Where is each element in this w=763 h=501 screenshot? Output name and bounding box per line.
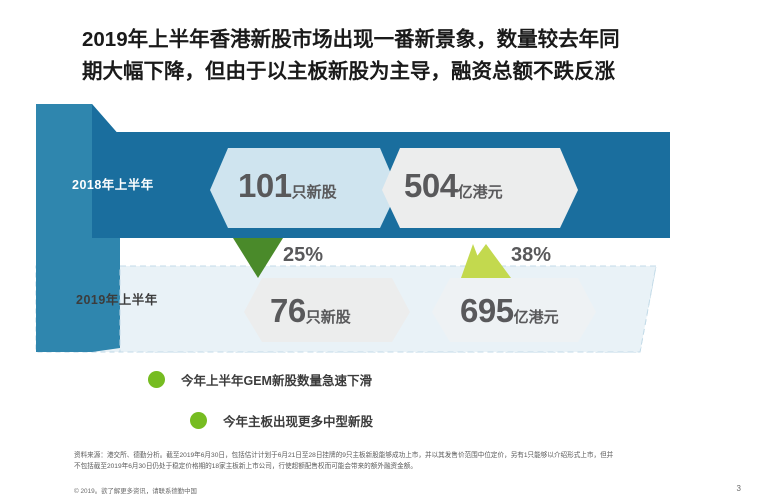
bullet-dot-icon xyxy=(190,412,207,429)
footnote-line-2: 不包括截至2019年6月30日仍处于稳定价格期的18家主板新上市公司，行使超额配… xyxy=(74,462,714,473)
stat-ipo-count-2018-value: 101 xyxy=(238,167,292,204)
stat-ipo-count-2019: 76只新股 xyxy=(270,292,351,330)
bullet-item-2: 今年主板出现更多中型新股 xyxy=(190,411,373,430)
stat-ipo-funds-2018-unit: 亿港元 xyxy=(458,184,503,201)
stat-ipo-count-2019-unit: 只新股 xyxy=(306,309,351,326)
stat-ipo-funds-2019-value: 695 xyxy=(460,292,514,329)
band-label-2019: 2019年上半年 xyxy=(76,289,158,308)
bullet-item-2-label: 今年主板出现更多中型新股 xyxy=(223,411,373,430)
stat-ipo-funds-2018: 504亿港元 xyxy=(404,167,503,205)
stat-ipo-count-2018-unit: 只新股 xyxy=(292,184,337,201)
bullet-item-1-label: 今年上半年GEM新股数量急速下滑 xyxy=(181,370,372,389)
band-label-2018: 2018年上半年 xyxy=(72,174,154,193)
slide: 2019年上半年香港新股市场出现一番新景象，数量较去年同 期大幅下降，但由于以主… xyxy=(0,0,763,501)
copyright-text: © 2019。欲了解更多资讯，请联系德勤中国 xyxy=(74,486,197,495)
page-number: 3 xyxy=(737,484,741,493)
footnote: 资料来源：港交所、德勤分析。截至2019年6月30日，包括估计计划于6月21日至… xyxy=(74,451,714,472)
delta-count-change: 25% xyxy=(283,244,323,267)
stat-ipo-funds-2019: 695亿港元 xyxy=(460,292,559,330)
footnote-line-1: 资料来源：港交所、德勤分析。截至2019年6月30日，包括估计计划于6月21日至… xyxy=(74,451,714,462)
funnel-graphic xyxy=(0,0,763,501)
band-separator-left xyxy=(36,238,120,266)
bullet-dot-icon xyxy=(148,371,165,388)
stat-ipo-funds-2018-value: 504 xyxy=(404,167,458,204)
delta-funds-change: 38% xyxy=(511,244,551,267)
stat-ipo-count-2019-value: 76 xyxy=(270,292,306,329)
bullet-item-1: 今年上半年GEM新股数量急速下滑 xyxy=(148,370,372,389)
stat-ipo-count-2018: 101只新股 xyxy=(238,167,337,205)
stat-ipo-funds-2019-unit: 亿港元 xyxy=(514,309,559,326)
band-separator xyxy=(120,238,670,266)
